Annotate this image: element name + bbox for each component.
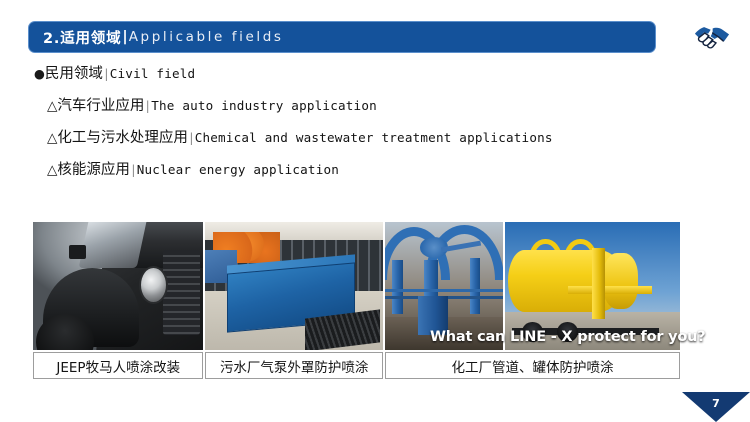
list-item-separator: | (130, 163, 137, 178)
pipe-railing (385, 289, 503, 293)
list-item-label-cn: 民用领域 (45, 66, 103, 82)
caption-pump-cover: 污水厂气泵外罩防护喷涂 (205, 352, 382, 379)
jeep-grille-shape (163, 250, 201, 334)
tank-standpipe-shape (592, 248, 604, 320)
pipe-vertical-shape (392, 260, 403, 314)
bullet-triangle-icon: △ (47, 130, 57, 146)
tank-arm-shape (568, 286, 652, 294)
list-item-label-en: Civil field (110, 66, 196, 81)
list-item-label-en: Nuclear energy application (137, 162, 339, 177)
bullet-dot-icon: ● (34, 66, 45, 81)
jeep-photo (33, 222, 203, 350)
list-item-label-en: The auto industry application (151, 98, 377, 113)
header-title-en: Applicable fields (129, 29, 284, 45)
caption-jeep: JEEP牧马人喷涂改装 (33, 352, 203, 379)
header-title-cn: 2.适用领域 (43, 27, 121, 48)
list-item: △化工与污水处理应用|Chemical and wastewater treat… (34, 130, 694, 146)
list-item: △核能源应用|Nuclear energy application (34, 162, 694, 178)
list-item-label-cn: 核能源应用 (57, 162, 130, 178)
header-separator: | (121, 29, 128, 45)
jeep-windshield-shape (79, 222, 148, 268)
jeep-mirror-shape (69, 245, 86, 259)
page-number: 7 (682, 397, 750, 410)
page-number-badge: 7 (682, 392, 750, 422)
handshake-icon (690, 16, 734, 58)
jeep-headlight-shape (139, 266, 168, 304)
caption-piping-and-tank: 化工厂管道、罐体防护喷涂 (385, 352, 680, 379)
list-item-label-cn: 化工与污水处理应用 (57, 130, 188, 146)
caption-row: JEEP牧马人喷涂改装 污水厂气泵外罩防护喷涂 化工厂管道、罐体防护喷涂 (33, 352, 680, 379)
tank-cap-shape (603, 253, 638, 309)
list-item: △汽车行业应用|The auto industry application (34, 98, 694, 114)
list-item: ●民用领域|Civil field (34, 66, 694, 82)
gallery-overlay-text: What can LINE - X protect for you? (430, 329, 706, 345)
bullet-triangle-icon: △ (47, 98, 57, 114)
pump-cover-photo (205, 222, 382, 350)
list-item-separator: | (188, 131, 195, 146)
list-item-label-cn: 汽车行业应用 (57, 98, 144, 114)
bullet-triangle-icon: △ (47, 162, 57, 178)
pipe-vertical-shape (470, 258, 481, 314)
section-header-bar: 2.适用领域 | Applicable fields (28, 21, 656, 53)
list-item-label-en: Chemical and wastewater treatment applic… (195, 130, 553, 145)
list-item-separator: | (103, 67, 110, 82)
bullet-list: ●民用领域|Civil field △汽车行业应用|The auto indus… (34, 66, 694, 194)
